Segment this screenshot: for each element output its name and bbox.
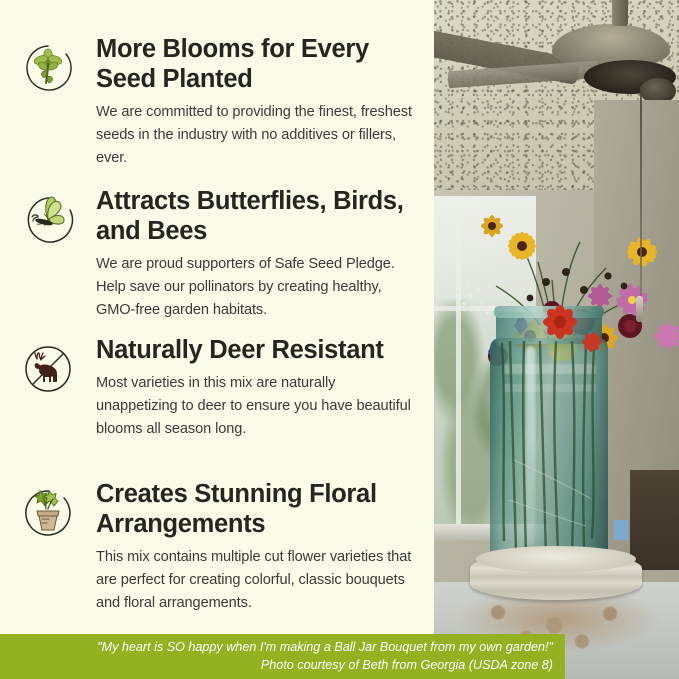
feature-icon-container [0, 479, 96, 541]
feature-text-block: More Blooms for Every Seed Planted We ar… [96, 34, 434, 170]
potted-plant-icon [20, 485, 76, 541]
flower-icon [20, 40, 76, 96]
feature-item-deer-resistant: Naturally Deer Resistant Most varieties … [0, 335, 434, 441]
jar-submerged-stems [490, 340, 608, 566]
feature-description: We are proud supporters of Safe Seed Ple… [96, 253, 420, 322]
feature-text-block: Creates Stunning Floral Arrangements Thi… [96, 479, 434, 615]
features-text-panel: More Blooms for Every Seed Planted We ar… [0, 0, 434, 679]
blue-object [614, 520, 628, 540]
feature-item-floral-arrangements: Creates Stunning Floral Arrangements Thi… [0, 479, 434, 615]
feature-title: Naturally Deer Resistant [96, 335, 420, 365]
feature-title: Creates Stunning Floral Arrangements [96, 479, 420, 539]
feature-title: Attracts Butterflies, Birds, and Bees [96, 186, 420, 246]
caption-quote: "My heart is SO happy when I'm making a … [97, 638, 553, 656]
feature-icon-container [0, 34, 96, 96]
no-deer-icon [20, 341, 76, 397]
caption-credit: Photo courtesy of Beth from Georgia (USD… [97, 656, 553, 674]
ceiling-fan-downrod [612, 0, 628, 26]
feature-icon-container [0, 186, 96, 248]
feature-description: This mix contains multiple cut flower va… [96, 546, 420, 615]
caption-text-block: "My heart is SO happy when I'm making a … [97, 638, 553, 674]
feature-item-attracts-pollinators: Attracts Butterflies, Birds, and Bees We… [0, 186, 434, 322]
fan-pull-chain-weight [636, 296, 643, 322]
fan-pull-chain [640, 86, 642, 296]
feature-icon-container [0, 335, 96, 397]
photo-caption-bar: "My heart is SO happy when I'm making a … [0, 634, 565, 679]
feature-title: More Blooms for Every Seed Planted [96, 34, 420, 94]
top-plate [476, 546, 636, 572]
butterfly-icon [20, 192, 76, 248]
feature-description: We are committed to providing the finest… [96, 101, 420, 170]
red-zinnia [530, 300, 610, 370]
feature-item-more-blooms: More Blooms for Every Seed Planted We ar… [0, 34, 434, 170]
dark-furniture [630, 470, 679, 570]
bouquet-photo [434, 0, 679, 679]
feature-description: Most varieties in this mix are naturally… [96, 372, 420, 441]
product-feature-panel: More Blooms for Every Seed Planted We ar… [0, 0, 679, 679]
feature-text-block: Naturally Deer Resistant Most varieties … [96, 335, 434, 441]
feature-text-block: Attracts Butterflies, Birds, and Bees We… [96, 186, 434, 322]
